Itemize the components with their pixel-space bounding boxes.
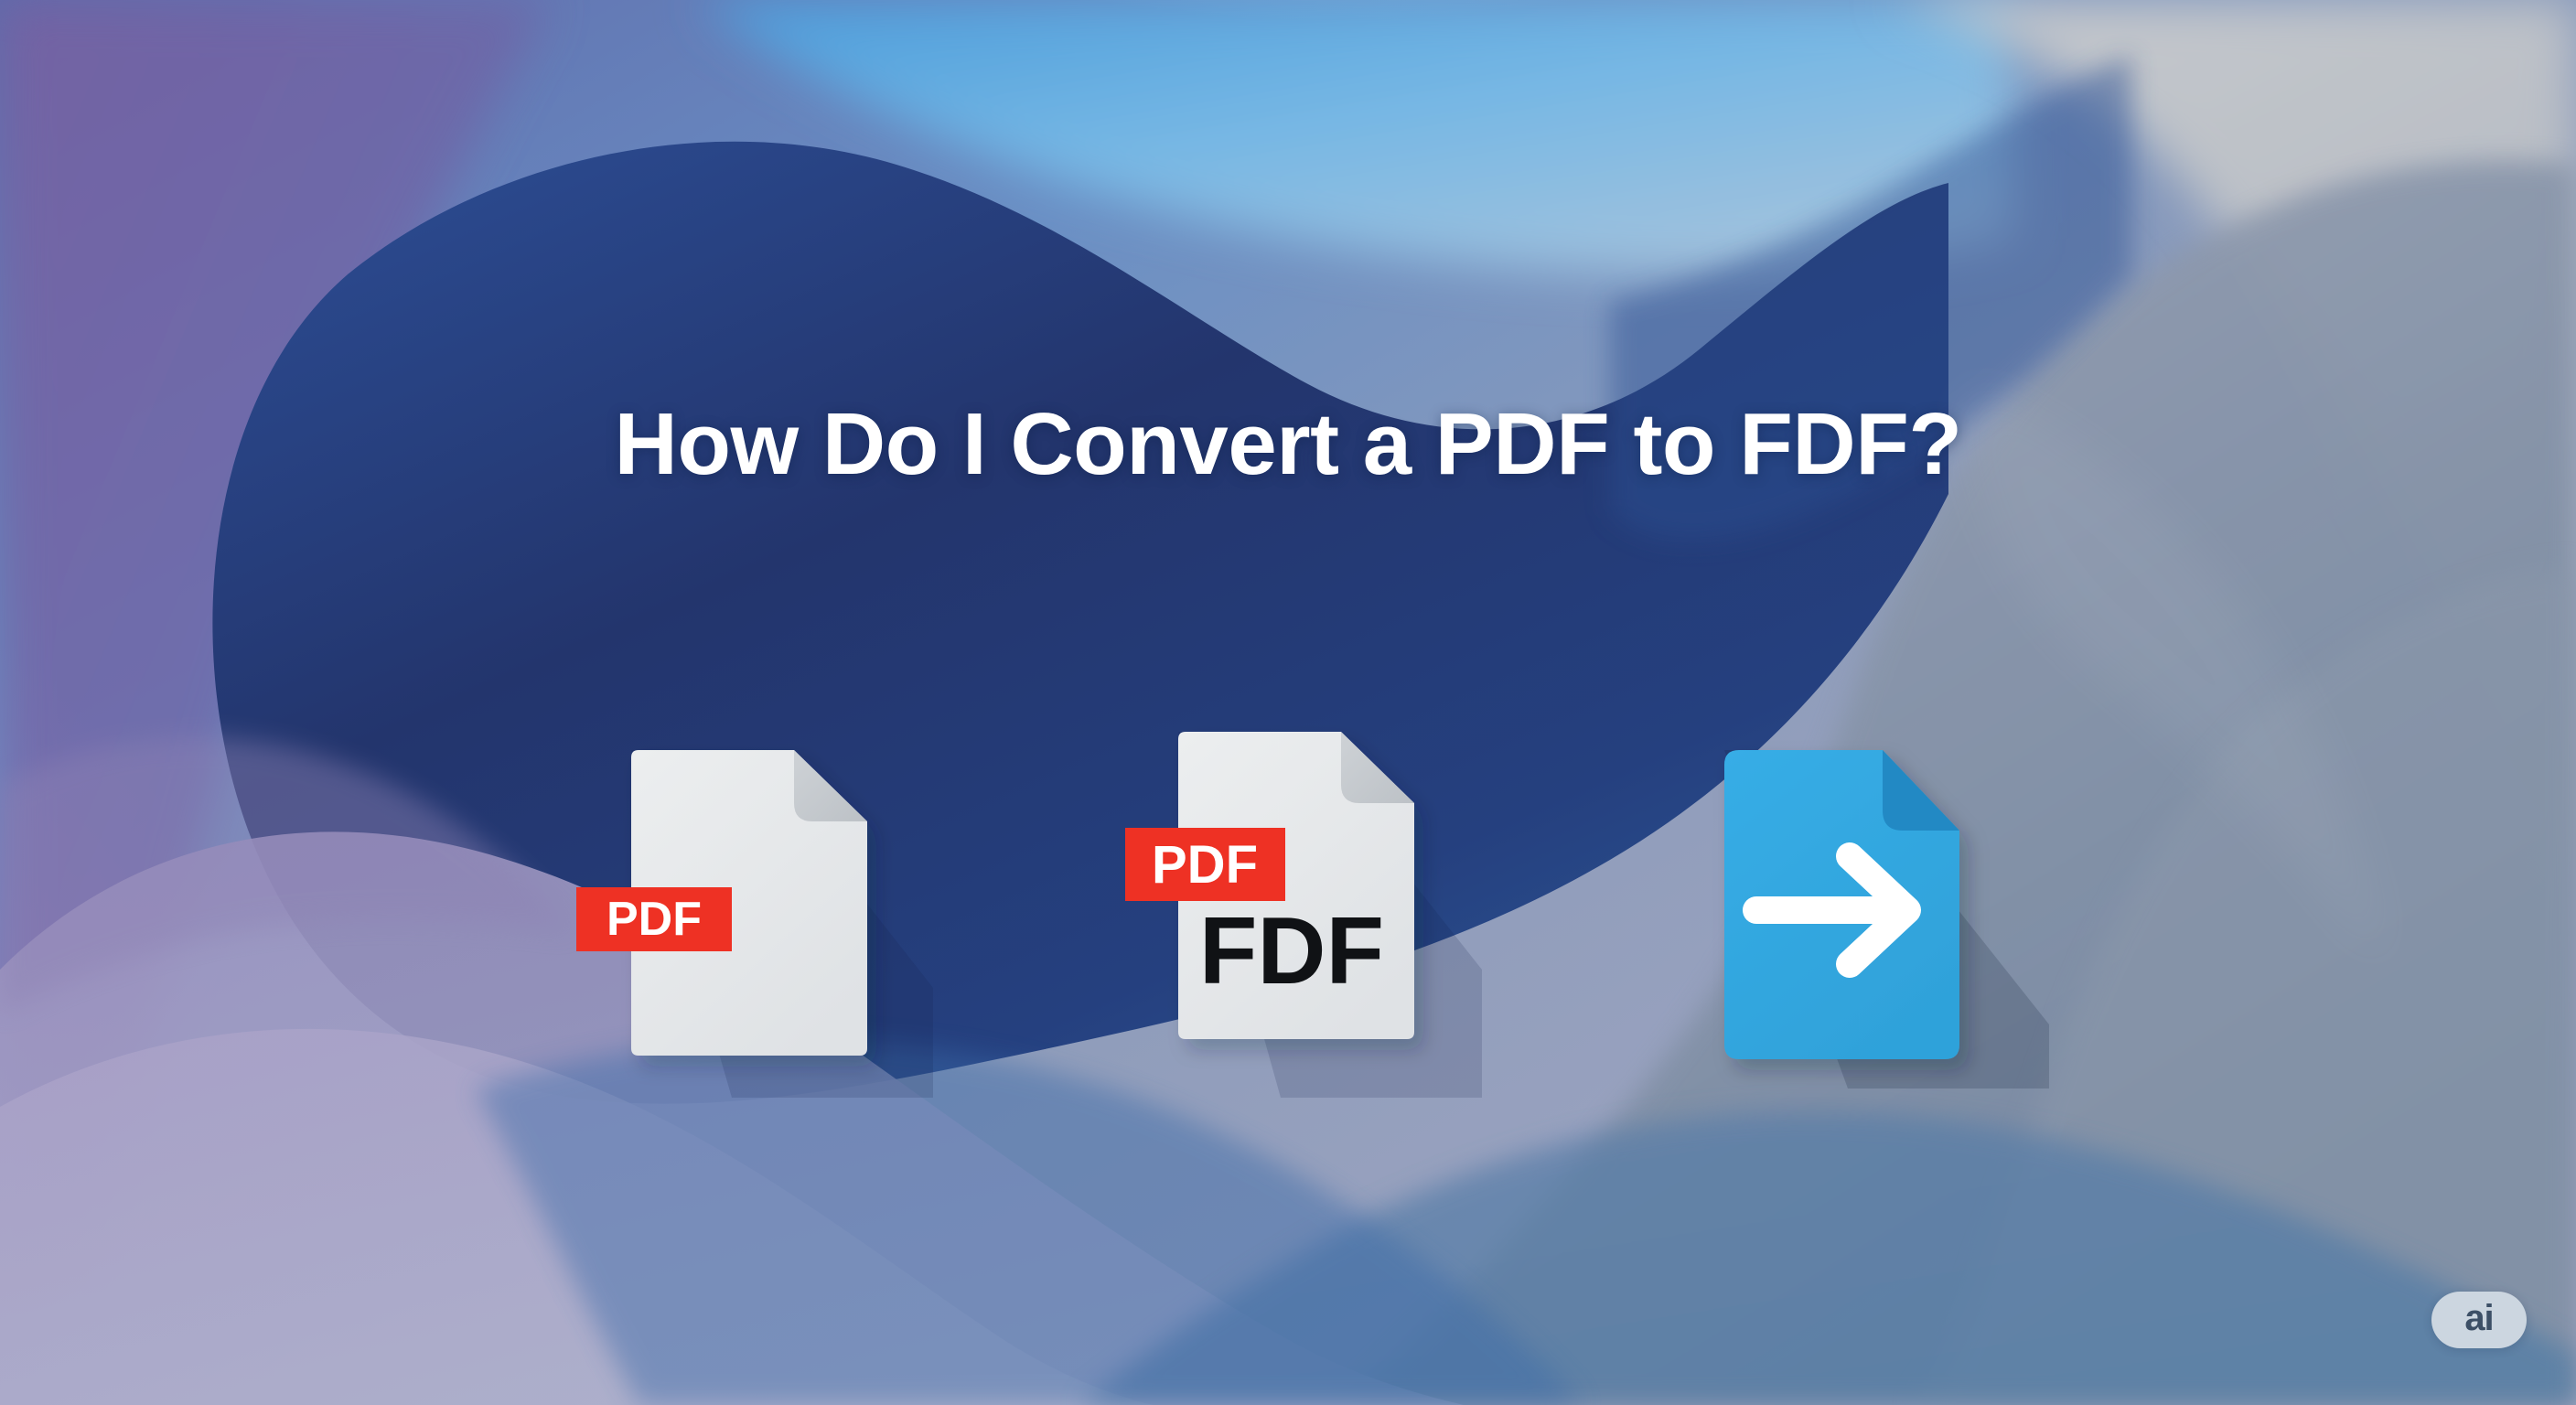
pdf-badge: PDF	[1125, 828, 1285, 901]
pdf-badge-label: PDF	[606, 893, 702, 946]
page-fold-corner	[1341, 732, 1414, 803]
file-icon-row: PDF	[0, 713, 2576, 1098]
pdf-badge: PDF	[576, 887, 732, 951]
slide-canvas: How Do I Convert a PDF to FDF?	[0, 0, 2576, 1405]
page-fold-corner	[1883, 750, 1959, 831]
background-artwork	[0, 0, 2576, 1405]
fdf-wordmark: FDF	[1199, 898, 1384, 1004]
ai-watermark-badge: ai	[2431, 1292, 2527, 1348]
pdf-document-icon-graphic: PDF	[549, 713, 933, 1098]
fdf-document-icon: PDF FDF	[1098, 713, 1482, 1098]
convert-arrow-document-icon	[1683, 713, 2049, 1098]
pdf-document-icon: PDF	[549, 713, 933, 1098]
page-fold-corner	[794, 750, 867, 821]
pdf-badge-label: PDF	[1152, 835, 1258, 895]
ai-watermark-label: ai	[2464, 1300, 2493, 1336]
convert-arrow-document-icon-graphic	[1683, 713, 2049, 1098]
fdf-document-icon-graphic: PDF FDF	[1098, 713, 1482, 1098]
